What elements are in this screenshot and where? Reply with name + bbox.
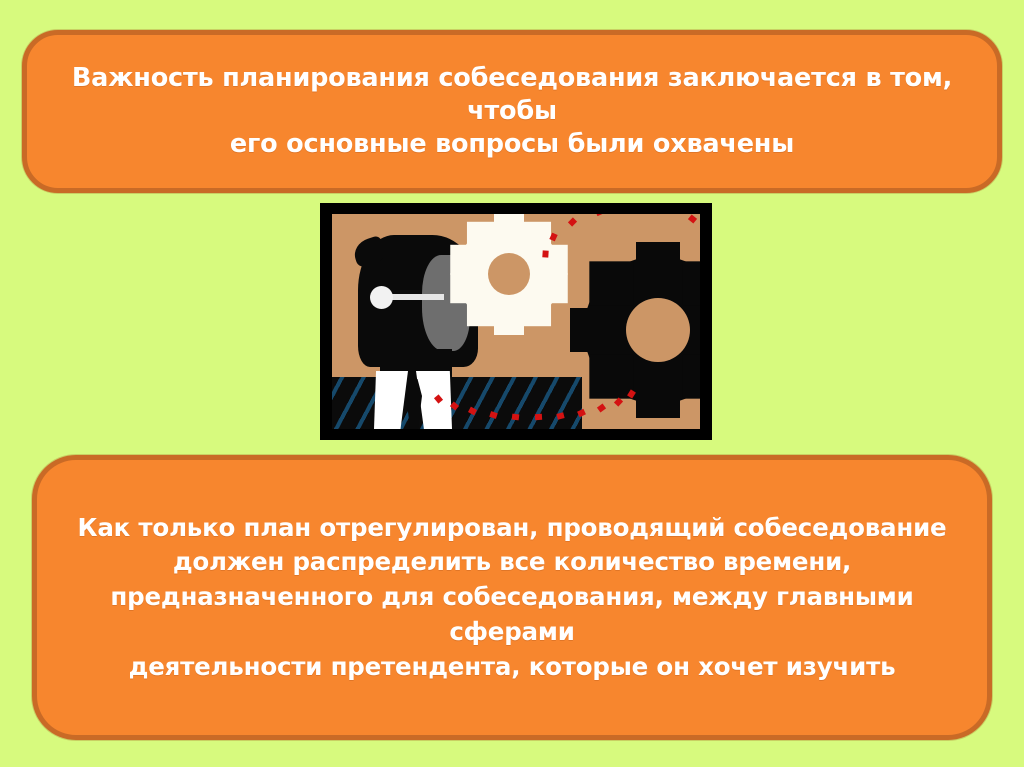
dashed-arc-dot: [489, 411, 498, 419]
dashed-arc-dot: [534, 414, 541, 420]
dashed-arc-dot: [556, 412, 564, 420]
illustration-frame: [320, 203, 712, 440]
dashed-arc-lower-icon: [332, 214, 700, 429]
top-callout-box: Важность планирования собеседования закл…: [22, 30, 1002, 193]
dashed-arc-dot: [468, 407, 477, 416]
dashed-arc-dot: [433, 394, 442, 403]
top-callout-text: Важность планирования собеседования закл…: [27, 62, 997, 161]
monocle-stem: [390, 294, 444, 300]
dashed-arc-dot: [627, 389, 636, 398]
eye-monocle-icon: [370, 286, 393, 309]
illustration-canvas: [332, 214, 700, 429]
dashed-arc-dot: [512, 414, 520, 421]
slide-canvas: Важность планирования собеседования закл…: [0, 0, 1024, 767]
dashed-arc-dot: [596, 403, 605, 412]
dashed-arc-dot: [449, 401, 458, 410]
dashed-arc-dot: [613, 397, 622, 406]
bottom-callout-text: Как только план отрегулирован, проводящи…: [37, 511, 987, 685]
bottom-callout-box: Как только план отрегулирован, проводящи…: [32, 455, 992, 740]
dashed-arc-dot: [577, 408, 586, 416]
